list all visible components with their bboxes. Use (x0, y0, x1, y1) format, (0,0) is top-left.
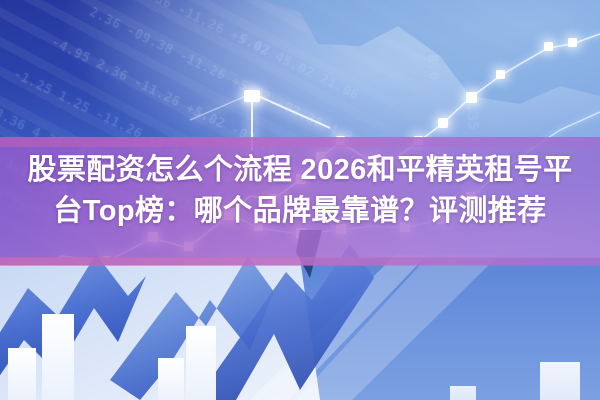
headline-band-bottom-edge (0, 257, 600, 266)
banner-image: -02.36 -11.26 +5.02 45.02 21.062.36 -09.… (0, 0, 600, 400)
cloud-silhouette (262, 0, 600, 104)
page-title: 股票配资怎么个流程 2026和平精英租号平台Top榜：哪个品牌最靠谱？评测推荐 (0, 150, 600, 232)
headline-band-top-edge (0, 137, 600, 147)
